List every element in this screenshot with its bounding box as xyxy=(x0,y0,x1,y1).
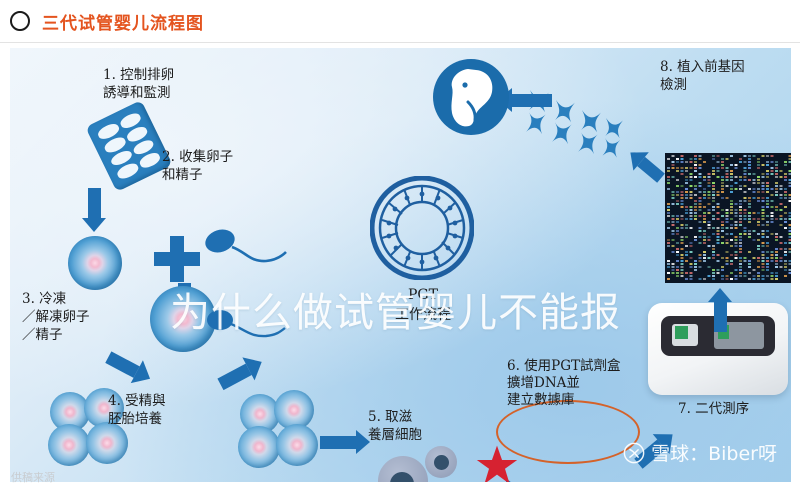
overlay-caption: 为什么做试管婴儿不能报 xyxy=(170,280,621,338)
ivf-flowchart-image: 1. 控制排卵 誘導和監測 3. 冷凍 ／解凍卵子 ／精子 2. 收集卵子 和精… xyxy=(10,48,791,482)
step-6-label: 6. 使用PGT試劑盒 擴增DNA並 建立數據庫 xyxy=(507,358,621,409)
step-4-label: 4. 受精與 胚胎培養 xyxy=(108,392,166,428)
pill-blister-icon xyxy=(85,100,172,192)
embryo-cluster-icon xyxy=(238,390,324,470)
microarray-icon xyxy=(665,153,791,283)
arrow-down-step1-to-step3 xyxy=(82,188,107,232)
plus-icon xyxy=(154,236,200,282)
step-3-label: 3. 冷凍 ／解凍卵子 ／精子 xyxy=(22,290,90,344)
arrow-right-to-step5 xyxy=(320,430,370,455)
step-5-label: 5. 取滋 養層細胞 xyxy=(368,408,422,444)
pgt-kit-icon xyxy=(496,400,640,464)
watermark-label: 雪球：Biber呀 xyxy=(651,439,777,466)
fetus-icon xyxy=(432,58,510,136)
step-8-label: 8. 植入前基因 檢測 xyxy=(660,58,745,94)
step-2-label: 2. 收集卵子 和精子 xyxy=(162,148,233,184)
header-divider xyxy=(0,42,800,43)
blastocyst-icon xyxy=(370,176,474,280)
arrow-up-to-step8 xyxy=(708,288,733,332)
footer-caption: 供稿来源 xyxy=(11,469,55,485)
circle-icon xyxy=(10,11,30,31)
frozen-gamete-icon xyxy=(68,236,122,290)
watermark-brand: 雪球：Biber呀 xyxy=(623,439,777,466)
egg-sperm-icon xyxy=(198,228,288,274)
step-1-label: 1. 控制排卵 誘導和監測 xyxy=(103,66,174,102)
step-7-label: 7. 二代測序 xyxy=(678,400,749,418)
xueqiu-logo-icon xyxy=(623,442,645,464)
page-header: 三代试管婴儿流程图 xyxy=(0,0,800,43)
page-title: 三代试管婴儿流程图 xyxy=(42,9,204,34)
trophectoderm-cell-icon xyxy=(378,446,462,482)
